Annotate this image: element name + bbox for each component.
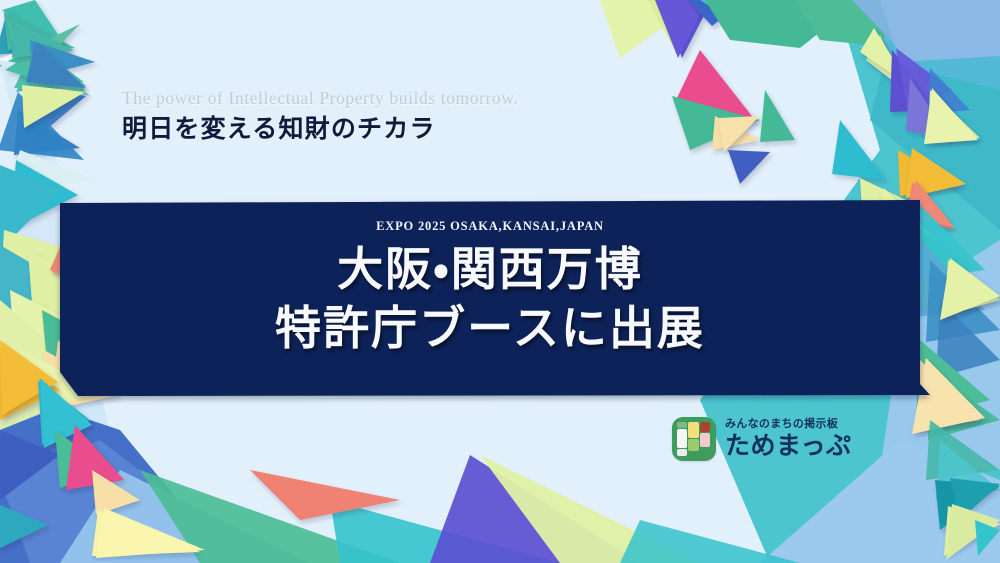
logo-tile-5: [700, 433, 710, 447]
logo-tile-1: [677, 422, 687, 428]
logo-tile-2: [688, 422, 699, 438]
tagline-block: The power of Intellectual Property build…: [122, 88, 518, 144]
logo-tile-3: [688, 439, 699, 451]
tagline-japanese: 明日を変える知財のチカラ: [122, 113, 518, 144]
logo-name: ためまっぷ: [725, 432, 852, 460]
logo-tile-4: [700, 422, 710, 432]
logo-tile-6: [677, 449, 687, 456]
logo-tile-0: [677, 429, 687, 448]
decorative-triangles-artwork: [0, 0, 1000, 563]
logo-text-block: みんなのまちの掲示板 ためまっぷ: [725, 418, 852, 460]
logo-tagline: みんなのまちの掲示板: [725, 418, 852, 430]
tamemap-logo-lockup[interactable]: みんなのまちの掲示板 ためまっぷ: [672, 417, 852, 461]
tamemap-logo-icon: [672, 417, 716, 461]
expo-banner: The power of Intellectual Property build…: [0, 0, 1000, 563]
tagline-english: The power of Intellectual Property build…: [122, 88, 518, 109]
